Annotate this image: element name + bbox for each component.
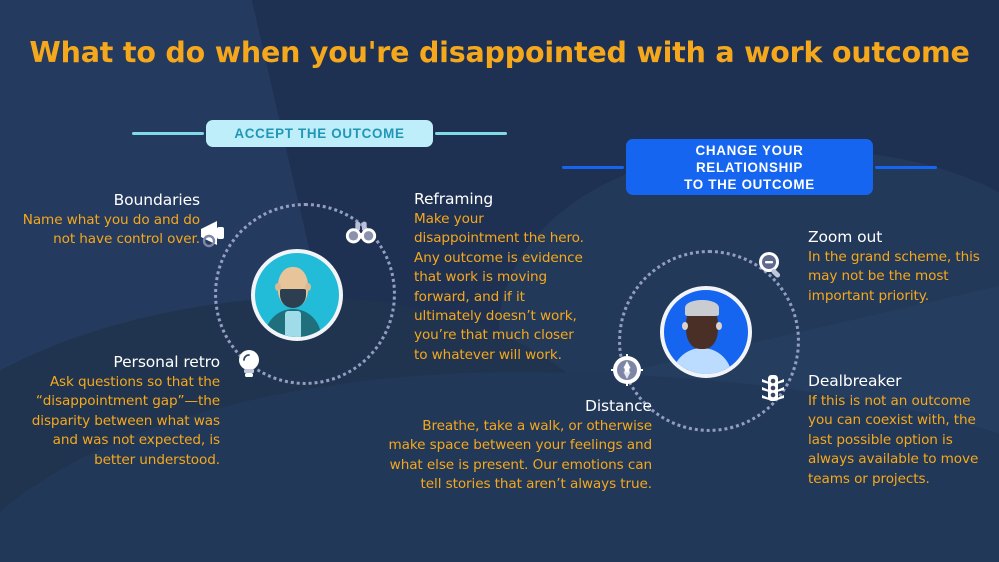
divider-line-right	[875, 166, 937, 169]
block-distance: Distance Breathe, take a walk, or otherw…	[388, 397, 652, 495]
avatar-left	[251, 249, 343, 341]
divider-line-left	[132, 132, 204, 135]
block-zoom-out-body: In the grand scheme, this may not be the…	[808, 248, 988, 306]
block-dealbreaker-body: If this is not an outcome you can coexis…	[808, 392, 988, 489]
block-distance-body: Breathe, take a walk, or otherwise make …	[388, 417, 652, 495]
block-distance-heading: Distance	[388, 397, 652, 415]
badge-change-your-relationship[interactable]: CHANGE YOUR RELATIONSHIP TO THE OUTCOME	[626, 139, 873, 195]
avatar-right-art	[664, 290, 748, 374]
compass-icon	[610, 353, 644, 387]
avatar-left-beard	[280, 289, 306, 308]
lightbulb-icon	[232, 347, 266, 381]
block-reframing-heading: Reframing	[414, 190, 590, 208]
block-personal-retro: Personal retro Ask questions so that the…	[8, 353, 220, 470]
divider-line-left	[562, 166, 624, 169]
avatar-right-ear	[682, 322, 688, 330]
block-dealbreaker: Dealbreaker If this is not an outcome yo…	[808, 372, 988, 489]
avatar-right-hair	[685, 300, 719, 316]
block-boundaries-body: Name what you do and do not have control…	[14, 211, 200, 250]
block-zoom-out: Zoom out In the grand scheme, this may n…	[808, 228, 988, 306]
block-personal-retro-heading: Personal retro	[8, 353, 220, 371]
block-reframing-body: Make your disappointment the hero. Any o…	[414, 210, 590, 365]
infographic-canvas: What to do when you're disappointed with…	[0, 0, 999, 562]
block-dealbreaker-heading: Dealbreaker	[808, 372, 988, 390]
megaphone-icon	[198, 218, 232, 252]
magnifier-minus-icon	[754, 248, 788, 282]
avatar-left-collar	[285, 311, 301, 341]
avatar-left-art	[255, 253, 339, 337]
avatar-right-ear	[716, 322, 722, 330]
block-personal-retro-body: Ask questions so that the “disappointmen…	[8, 373, 220, 470]
badge-change-line-1: CHANGE YOUR RELATIONSHIP	[640, 142, 859, 176]
block-zoom-out-heading: Zoom out	[808, 228, 988, 246]
avatar-right	[660, 286, 752, 378]
block-reframing: Reframing Make your disappointment the h…	[414, 190, 590, 365]
section-header-change: CHANGE YOUR RELATIONSHIP TO THE OUTCOME	[562, 139, 937, 195]
avatar-left-ear	[305, 283, 311, 291]
divider-line-right	[435, 132, 507, 135]
badge-accept-the-outcome[interactable]: ACCEPT THE OUTCOME	[206, 120, 433, 147]
traffic-light-icon	[756, 371, 790, 405]
section-header-accept: ACCEPT THE OUTCOME	[132, 118, 507, 148]
block-boundaries-heading: Boundaries	[14, 191, 200, 209]
page-title: What to do when you're disappointed with…	[0, 36, 999, 69]
avatar-right-body	[672, 348, 732, 378]
block-boundaries: Boundaries Name what you do and do not h…	[14, 191, 200, 250]
avatar-left-ear	[275, 283, 281, 291]
badge-change-line-2: TO THE OUTCOME	[640, 176, 859, 193]
binoculars-icon	[344, 216, 378, 250]
